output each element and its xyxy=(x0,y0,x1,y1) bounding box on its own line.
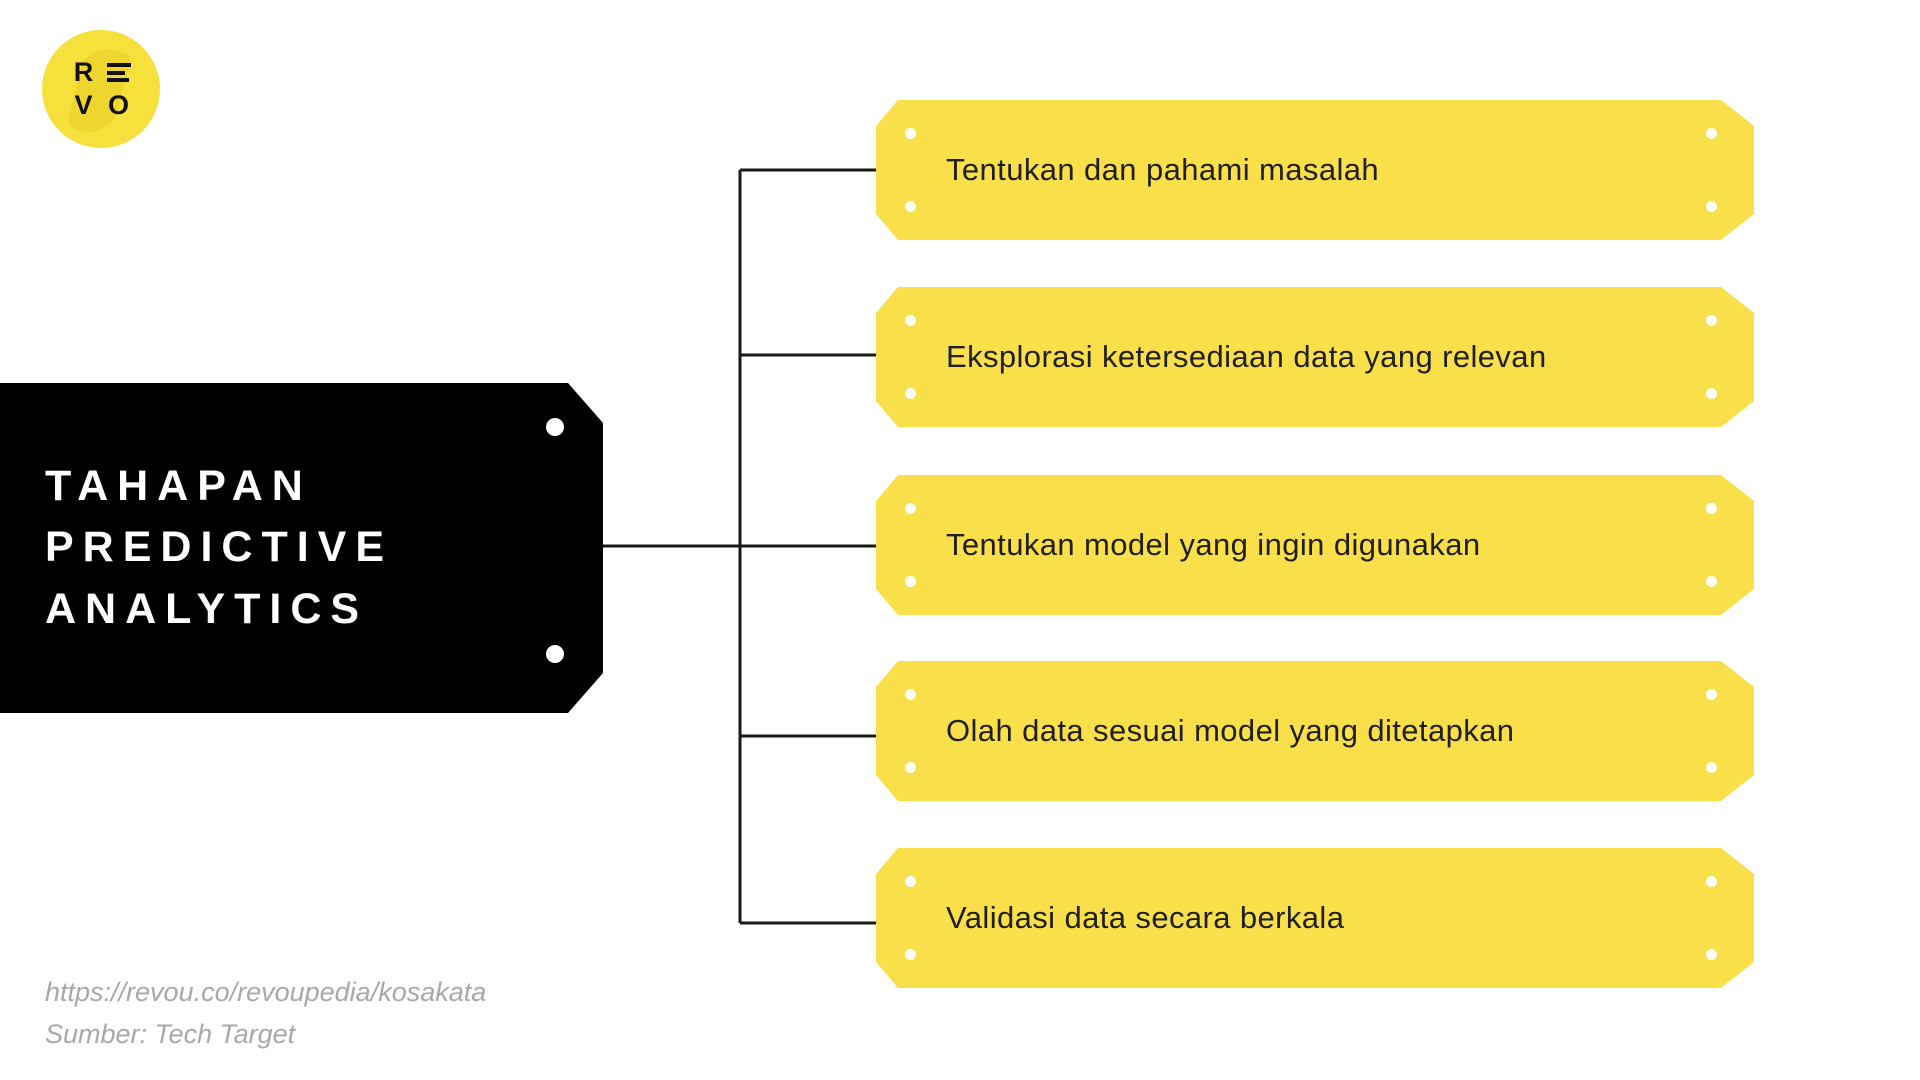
step-card-5[interactable]: Validasi data secara berkala xyxy=(876,848,1754,988)
step-card-label: Eksplorasi ketersediaan data yang releva… xyxy=(876,339,1547,375)
card-dot-top-right xyxy=(1706,128,1717,139)
card-dot-bottom-right xyxy=(1706,762,1717,773)
card-dot-bottom-left xyxy=(905,949,916,960)
footer-url[interactable]: https://revou.co/revoupedia/kosakata xyxy=(45,972,486,1014)
card-dot-bottom-left xyxy=(905,762,916,773)
step-card-label: Tentukan model yang ingin digunakan xyxy=(876,527,1481,563)
slide-canvas: R V O TAHAPAN PREDICTIVE ANALYTICS xyxy=(0,0,1920,1080)
step-card-4[interactable]: Olah data sesuai model yang ditetapkan xyxy=(876,661,1754,801)
step-card-1[interactable]: Tentukan dan pahami masalah xyxy=(876,100,1754,240)
card-dot-bottom-right xyxy=(1706,201,1717,212)
step-card-label: Validasi data secara berkala xyxy=(876,900,1344,936)
step-card-label: Olah data sesuai model yang ditetapkan xyxy=(876,713,1514,749)
step-card-2[interactable]: Eksplorasi ketersediaan data yang releva… xyxy=(876,287,1754,427)
card-dot-bottom-right xyxy=(1706,576,1717,587)
card-dot-bottom-left xyxy=(905,388,916,399)
card-dot-bottom-left xyxy=(905,576,916,587)
card-dot-top-left xyxy=(905,128,916,139)
title-plate-dot-top xyxy=(546,418,564,436)
card-dot-top-left xyxy=(905,689,916,700)
card-dot-top-right xyxy=(1706,503,1717,514)
step-card-label: Tentukan dan pahami masalah xyxy=(876,152,1379,188)
title-plate-dot-bottom xyxy=(546,645,564,663)
card-dot-bottom-right xyxy=(1706,388,1717,399)
card-dot-top-left xyxy=(905,503,916,514)
card-dot-top-right xyxy=(1706,689,1717,700)
card-dot-top-left xyxy=(905,315,916,326)
title-plate: TAHAPAN PREDICTIVE ANALYTICS xyxy=(0,383,603,713)
page-title: TAHAPAN PREDICTIVE ANALYTICS xyxy=(0,456,393,639)
step-card-3[interactable]: Tentukan model yang ingin digunakan xyxy=(876,475,1754,615)
card-dot-top-right xyxy=(1706,876,1717,887)
footer-source: Sumber: Tech Target xyxy=(45,1014,486,1056)
footer: https://revou.co/revoupedia/kosakata Sum… xyxy=(45,972,486,1056)
card-dot-top-right xyxy=(1706,315,1717,326)
card-dot-top-left xyxy=(905,876,916,887)
card-dot-bottom-left xyxy=(905,201,916,212)
card-dot-bottom-right xyxy=(1706,949,1717,960)
